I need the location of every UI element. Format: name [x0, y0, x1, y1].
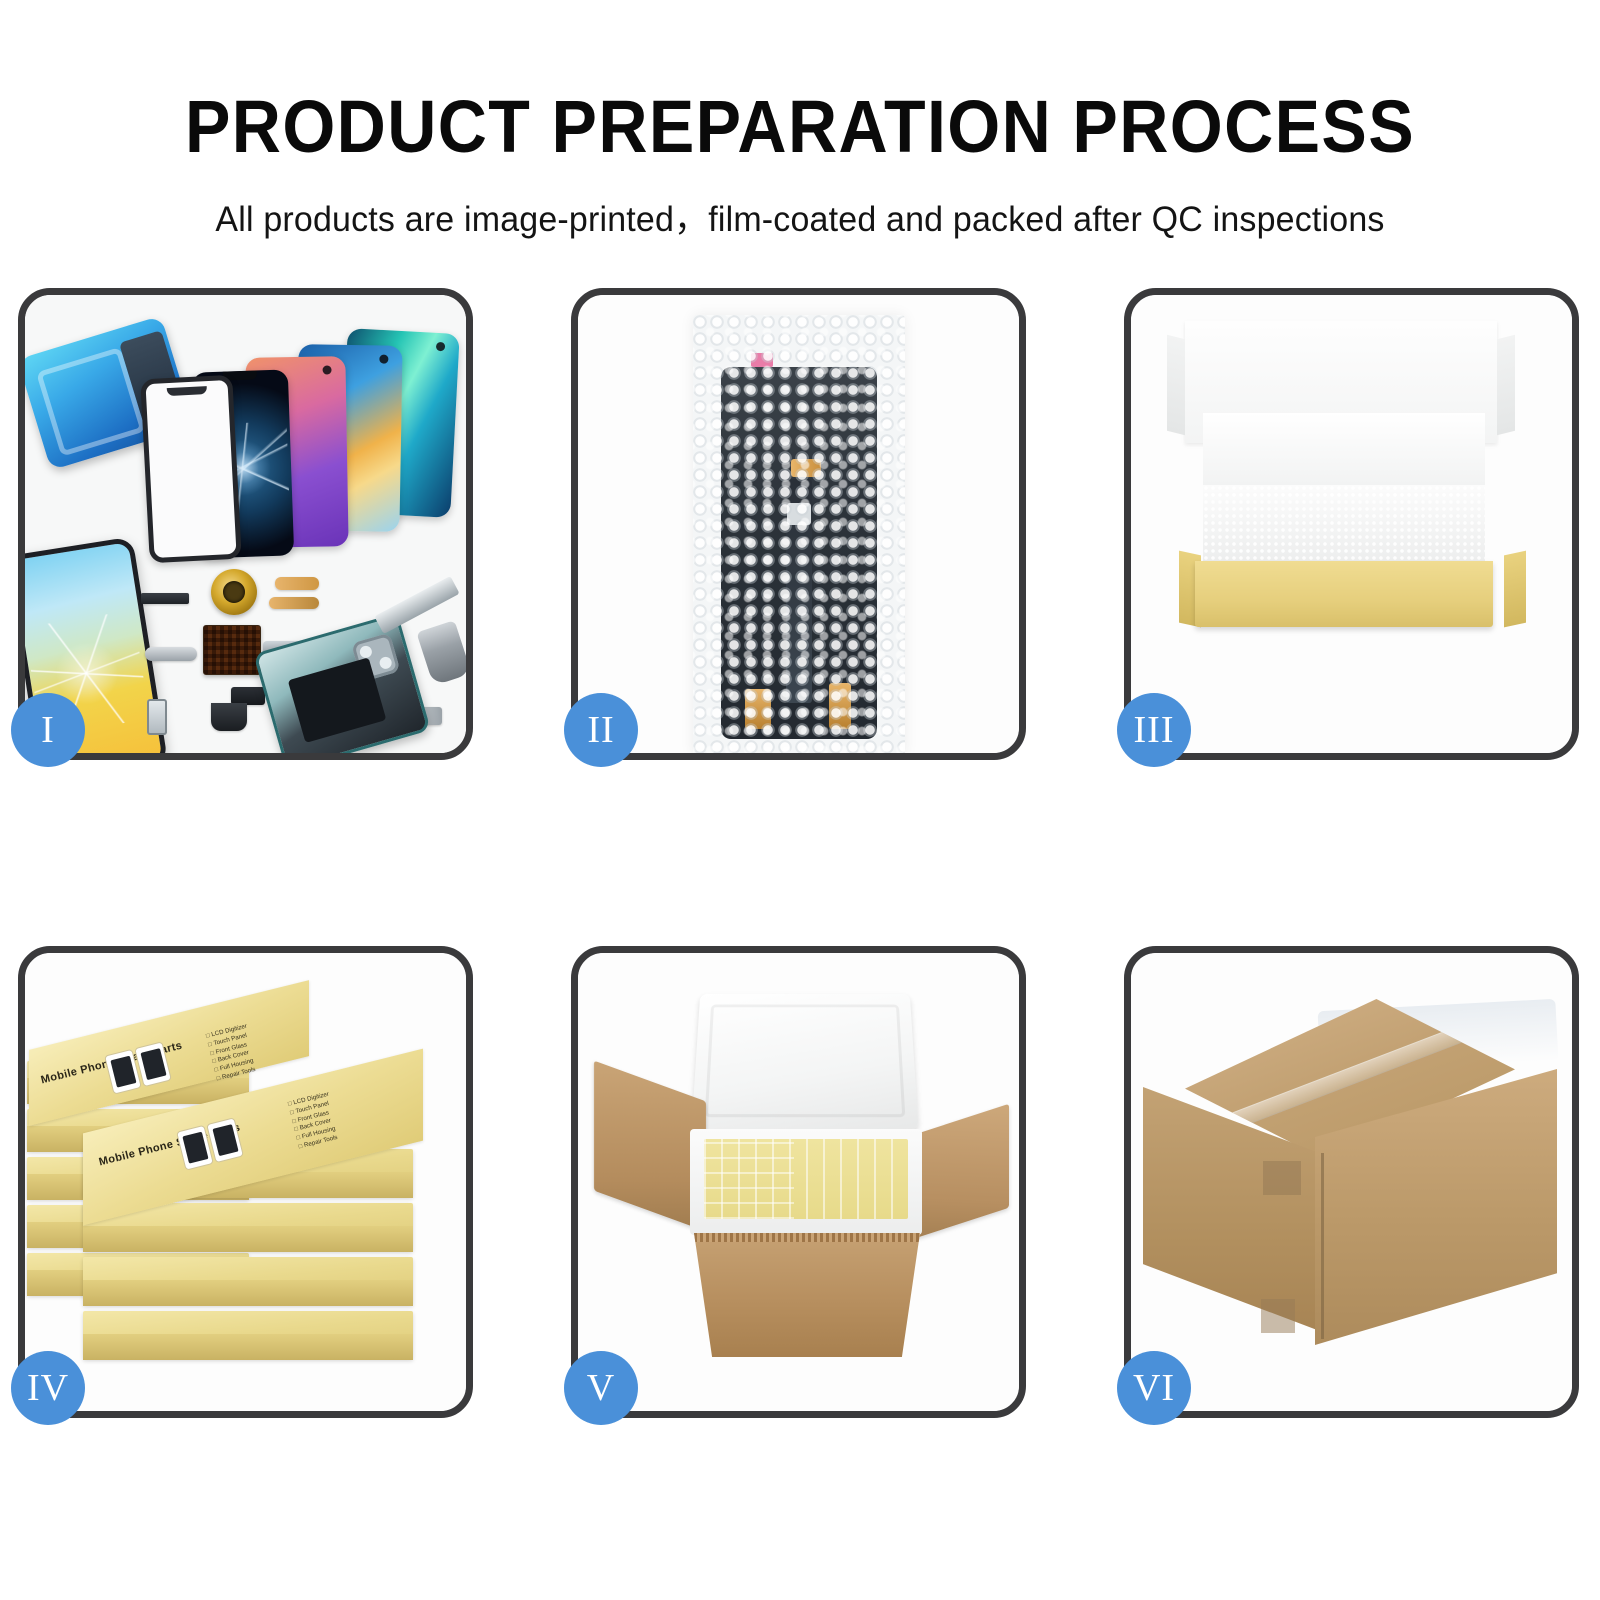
carton-tape-tab-lower [1261, 1299, 1295, 1333]
process-step-2: II [571, 288, 1026, 760]
flex-cable-part-2 [269, 597, 319, 609]
retail-box-front-4 [83, 1311, 413, 1359]
carton-tape-tab-upper [1263, 1161, 1301, 1195]
sim-tray-part [147, 699, 167, 735]
step-badge-6: VI [1117, 1351, 1191, 1425]
foam-sheet [1203, 485, 1485, 567]
antenna-strip-part [141, 593, 189, 604]
step-6-image [1131, 953, 1572, 1411]
step-badge-2: II [564, 693, 638, 767]
taptic-engine-part [211, 703, 247, 731]
front-glass-panel [140, 375, 242, 564]
wireless-charging-coil-part [211, 569, 257, 615]
process-step-3: III [1124, 288, 1579, 760]
step-2-image [578, 295, 1019, 753]
bubble-wrap-bag [693, 315, 905, 753]
logic-board-chip-part [203, 625, 261, 675]
retail-box-front-3 [83, 1257, 413, 1305]
mailer-box-front-panel [1195, 561, 1493, 627]
flex-cable-part-1 [275, 577, 319, 590]
parts-collage [25, 295, 466, 753]
process-step-5: V [571, 946, 1026, 1418]
step-3-image [1131, 295, 1572, 753]
foam-lid [691, 994, 918, 1130]
step-1-image [25, 295, 466, 753]
step-5-image [578, 953, 1019, 1411]
step-badge-3: III [1117, 693, 1191, 767]
page-subtitle: All products are image-printed，film-coat… [24, 191, 1576, 242]
carton-body [694, 1233, 920, 1357]
step-badge-1: I [11, 693, 85, 767]
retail-box-stack: Mobile Phone Spare Parts LCD Digitizer T… [25, 953, 466, 1411]
step-badge-4: IV [11, 1351, 85, 1425]
infographic-page: PRODUCT PREPARATION PROCESS All products… [0, 0, 1600, 1600]
mailer-box-right-flap [1504, 551, 1526, 628]
cleaning-brush-tool [416, 620, 466, 686]
back-housing-with-battery [253, 613, 431, 753]
step-badge-5: V [564, 1351, 638, 1425]
process-step-4: Mobile Phone Spare Parts LCD Digitizer T… [18, 946, 473, 1418]
packed-retail-boxes [704, 1139, 908, 1219]
carton-corner-seam [1321, 1153, 1324, 1339]
bubble-texture-overlay [693, 315, 905, 753]
header: PRODUCT PREPARATION PROCESS All products… [0, 0, 1600, 242]
process-step-grid: I II [18, 288, 1582, 1418]
process-step-1: I [18, 288, 473, 760]
volume-button-flex-part [145, 647, 197, 661]
sealed-carton [1143, 999, 1557, 1355]
step-4-image: Mobile Phone Spare Parts LCD Digitizer T… [25, 953, 466, 1411]
process-step-6: VI [1124, 946, 1579, 1418]
page-title: PRODUCT PREPARATION PROCESS [64, 84, 1536, 169]
